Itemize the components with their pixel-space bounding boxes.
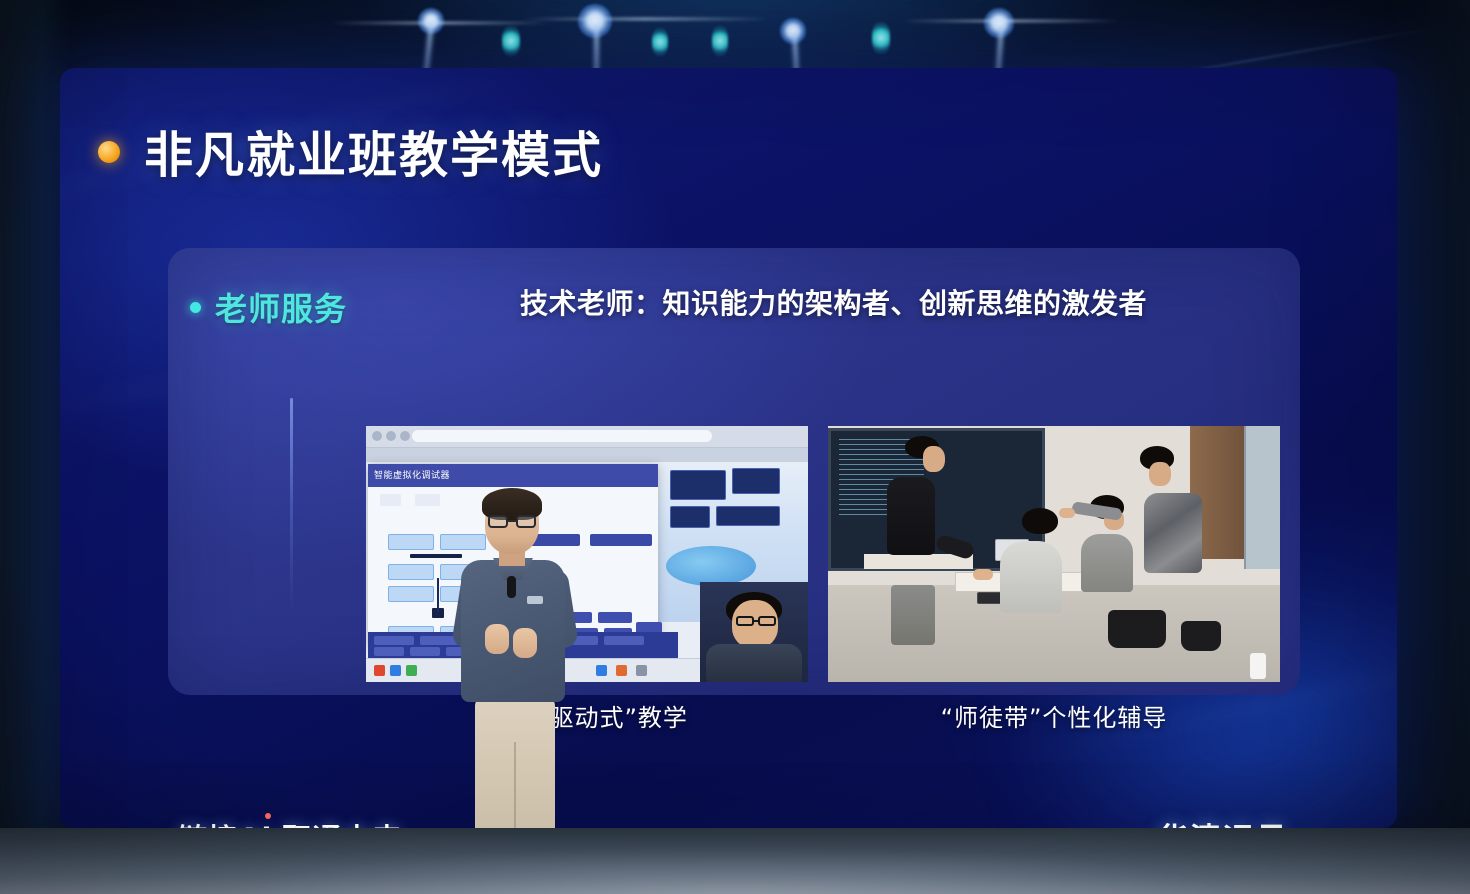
slogan-part2: 职通未来 [282, 816, 402, 828]
flow-link [437, 578, 439, 612]
slogan-part1: 链接Ai [178, 816, 272, 828]
content-panel: 老师服务 技术老师：知识能力的架构者、创新思维的激发者 [168, 248, 1300, 695]
taskbar-app-icon[interactable] [390, 665, 401, 676]
flow-node [388, 586, 434, 602]
flow-node [388, 534, 434, 550]
section-label: 老师服务 [215, 284, 347, 330]
stage-light-accent [712, 26, 728, 56]
reload-icon [400, 431, 410, 441]
led-screen-slide: 非凡就业班教学模式 老师服务 技术老师：知识能力的架构者、创新思维的激发者 [60, 68, 1397, 828]
tab-item[interactable] [380, 494, 401, 506]
presenter-hand [513, 628, 537, 658]
nav-forward-icon [386, 431, 396, 441]
app-tabs [380, 494, 440, 506]
page-title: 非凡就业班教学模式 [144, 116, 603, 187]
taskbar-app-icon[interactable] [374, 665, 385, 676]
slide-title-row: 非凡就业班教学模式 [98, 116, 603, 187]
presenter [455, 492, 575, 882]
presenter-hand [485, 624, 509, 654]
headline-text: 技术老师：知识能力的架构者、创新思维的激发者 [520, 282, 1147, 322]
caption-mentorship-tutoring: “师徒带”个性化辅导 [828, 698, 1280, 733]
glasses-icon [488, 515, 536, 528]
microphone-icon [507, 576, 516, 598]
taskbar-app-icon[interactable] [636, 665, 647, 676]
photo-office-chair [1181, 621, 1221, 651]
light-flare [520, 18, 770, 20]
presenter-facecam [700, 582, 808, 682]
app-titlebar: 智能虚拟化调试器 [368, 464, 658, 487]
photo-back-counter [864, 554, 972, 569]
app-title: 智能虚拟化调试器 [374, 468, 450, 481]
hall-display [670, 470, 726, 500]
flow-node [388, 564, 434, 580]
stage-light-accent [872, 22, 890, 54]
nav-back-icon [372, 431, 382, 441]
photo-window [1244, 426, 1280, 569]
action-button[interactable] [590, 534, 652, 546]
presenter-trousers [475, 696, 555, 848]
bullet-dot-icon [98, 141, 120, 163]
light-flare [330, 22, 550, 24]
stage-floor [0, 828, 1470, 894]
vertical-divider [290, 398, 293, 610]
tab-item[interactable] [415, 494, 440, 506]
address-bar [412, 430, 712, 442]
caption-project-based-teaching: “项目驱动式”教学 [366, 698, 808, 733]
control-button[interactable] [598, 612, 632, 623]
bullet-dot-icon [190, 302, 201, 313]
media-project-based-teaching: 智能虚拟化调试器 [366, 426, 808, 682]
browser-tabstrip [366, 448, 808, 462]
browser-window: 智能虚拟化调试器 [366, 426, 808, 682]
taskbar-app-icon[interactable] [616, 665, 627, 676]
light-flare [900, 20, 1120, 22]
hall-floor-graphic [666, 546, 756, 586]
classroom-photo [828, 426, 1280, 682]
hall-display [716, 506, 780, 526]
stage-light-accent [652, 28, 668, 56]
hall-display [732, 468, 780, 494]
hall-display [670, 506, 710, 528]
presenter-shirt-logo [527, 596, 543, 604]
stage-light-accent [502, 26, 520, 56]
photo-office-chair [1108, 610, 1166, 648]
company-logo: 华清远见 HQYJ.COM [1157, 814, 1289, 828]
slogan-logo: 链接Ai 职通未来 [178, 816, 402, 828]
browser-toolbar [366, 426, 808, 448]
media-mentorship-tutoring [828, 426, 1280, 682]
taskbar-app-icon[interactable] [406, 665, 417, 676]
company-name-cn: 华清远见 [1157, 814, 1289, 828]
stage-room: 非凡就业班教学模式 老师服务 技术老师：知识能力的架构者、创新思维的激发者 [0, 0, 1470, 894]
photo-bottle [1250, 653, 1266, 679]
taskbar-app-icon[interactable] [596, 665, 607, 676]
